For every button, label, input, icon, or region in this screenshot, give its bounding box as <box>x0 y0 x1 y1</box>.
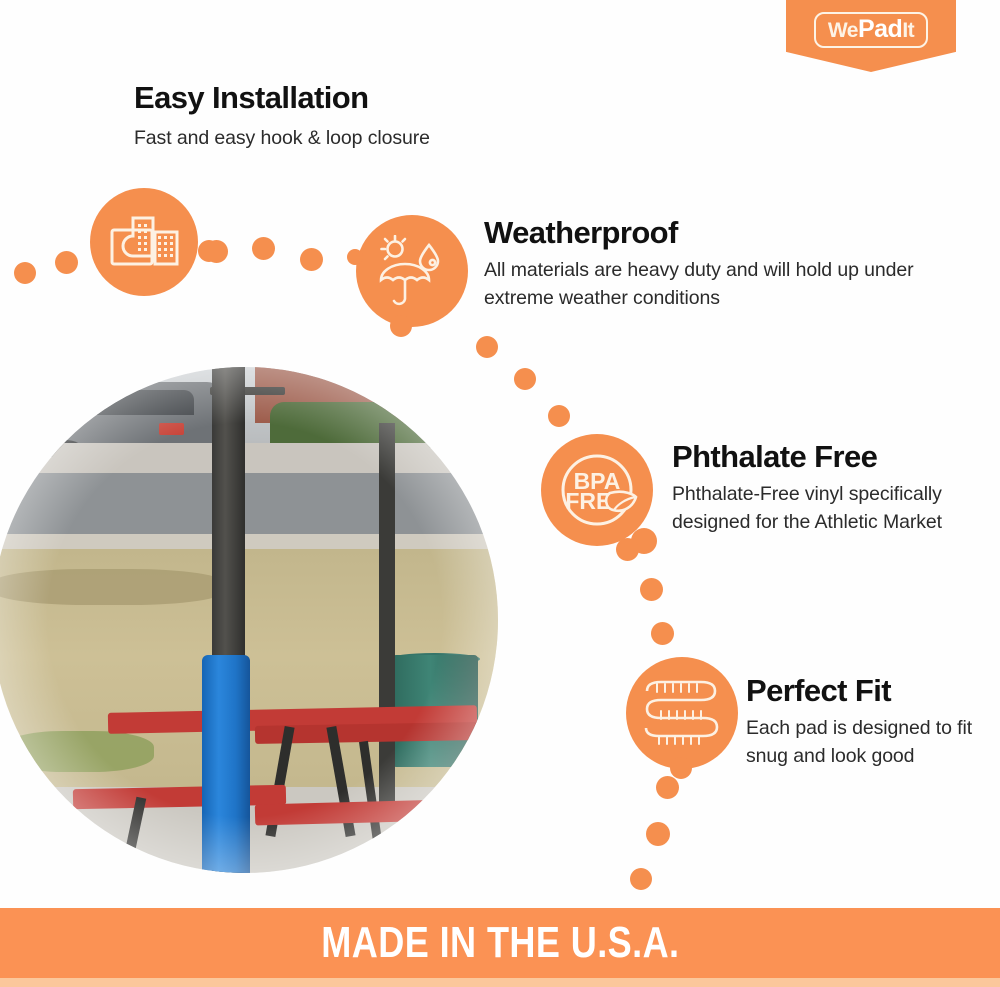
trail-dot <box>646 822 670 846</box>
brand-logo-it: It <box>902 20 914 41</box>
banner-bottom-edge <box>0 978 1000 987</box>
trail-dot <box>656 776 679 799</box>
icon-nub-weather-bottom <box>390 315 412 337</box>
trail-dot <box>55 251 78 274</box>
made-in-usa-text: MADE IN THE U.S.A. <box>321 918 679 968</box>
product-photo <box>0 367 498 873</box>
feature-title-weatherproof: Weatherproof <box>484 215 678 251</box>
feature-description-perfect-fit: Each pad is designed to fit snug and loo… <box>746 715 986 770</box>
trail-dot <box>514 368 536 390</box>
trail-dot <box>252 237 275 260</box>
feature-title-perfect-fit: Perfect Fit <box>746 673 891 709</box>
feature-description-phthalate-free: Phthalate-Free vinyl specifically design… <box>672 481 942 536</box>
trail-dot <box>548 405 570 427</box>
trail-dot <box>640 578 663 601</box>
feature-description-easy-installation: Fast and easy hook & loop closure <box>134 125 554 153</box>
trail-dot <box>630 868 652 890</box>
measuring-tape-icon <box>626 657 738 769</box>
product-photo-vignette <box>0 367 498 873</box>
hook-loop-closure-icon <box>90 188 198 296</box>
brand-logo-we: We <box>828 20 858 41</box>
made-in-usa-banner: MADE IN THE U.S.A. <box>0 908 1000 978</box>
bpa-free-leaf-icon: BPA FREE <box>541 434 653 546</box>
trail-dot <box>205 240 228 263</box>
trail-dot <box>476 336 498 358</box>
infographic-page: We Pad It Easy Installation Fast and eas… <box>0 0 1000 987</box>
icon-nub-fit <box>670 757 692 779</box>
feature-title-phthalate-free: Phthalate Free <box>672 439 877 475</box>
brand-logo-badge: We Pad It <box>786 0 956 72</box>
brand-logo-frame: We Pad It <box>814 12 928 48</box>
feature-description-weatherproof: All materials are heavy duty and will ho… <box>484 257 914 312</box>
brand-logo-pad: Pad <box>858 17 902 42</box>
icon-nub-weather-left <box>347 249 363 265</box>
trail-dot <box>300 248 323 271</box>
feature-title-easy-installation: Easy Installation <box>134 80 368 116</box>
trail-dot <box>14 262 36 284</box>
trail-dot <box>651 622 674 645</box>
trail-dot <box>616 538 639 561</box>
sun-umbrella-raindrop-icon <box>356 215 468 327</box>
